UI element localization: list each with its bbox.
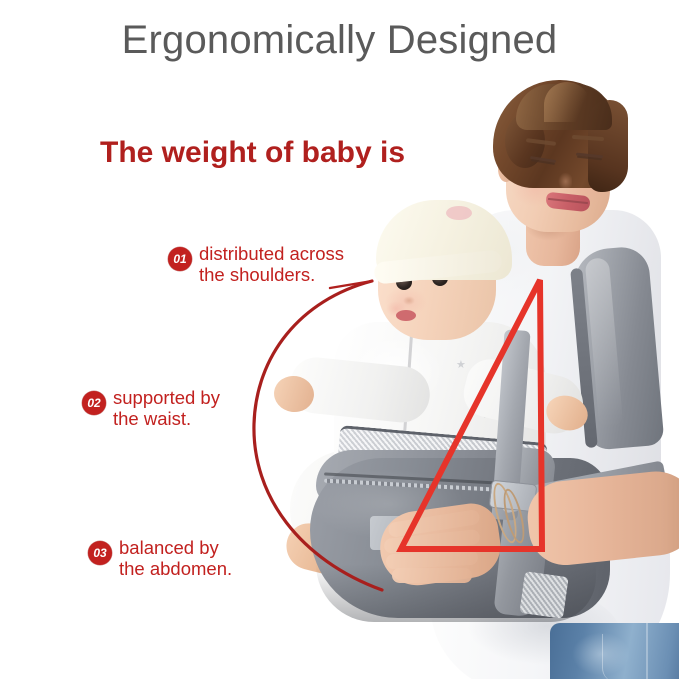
callout-01-text: distributed across the shoulders. [199,244,344,285]
woman-finger [392,568,472,583]
baby-hat-motif [446,206,472,220]
baby-nose [402,294,416,305]
baby-mouth [396,310,416,321]
callout-03-badge: 03 [88,541,112,565]
callout-02-text: supported by the waist. [113,388,220,429]
callout-01-badge: 01 [168,247,192,271]
callout-02: 02 supported by the waist. [82,388,220,429]
callout-03: 03 balanced by the abdomen. [88,538,232,579]
woman-hair-part [544,82,590,122]
page-title: Ergonomically Designed [0,18,679,63]
callout-02-badge: 02 [82,391,106,415]
woman-nose [556,166,572,188]
callout-01: 01 distributed across the shoulders. [168,244,344,285]
callout-03-text: balanced by the abdomen. [119,538,232,579]
subtitle: The weight of baby is [100,136,405,170]
carrier-mesh-pad [519,571,568,619]
onesie-star-print: ★ [456,360,466,371]
jeans-seam [646,623,648,679]
product-infographic: ★ ★ ★ ★ ★ ★ ★ ★ [0,0,679,679]
jeans-pocket [602,634,647,679]
